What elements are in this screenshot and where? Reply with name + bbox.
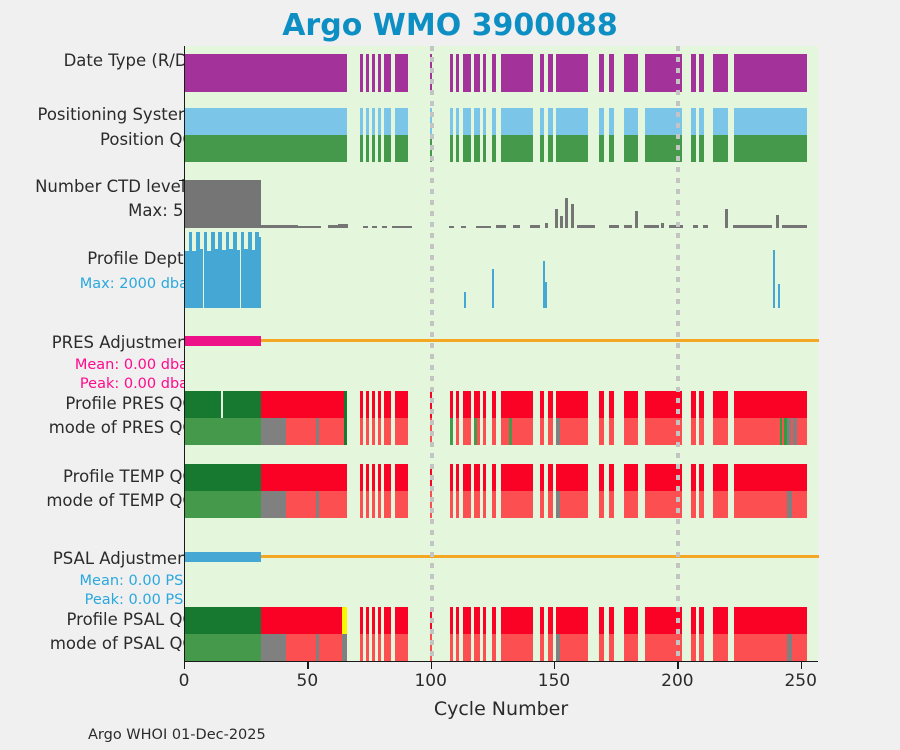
- qc-segment: [261, 391, 344, 418]
- data-span: [734, 135, 807, 162]
- qc-segment: [463, 607, 472, 634]
- qc-segment: [384, 391, 391, 418]
- row-label-mode-pres-qc: mode of PRES QC: [49, 419, 194, 437]
- qc-segment: [691, 634, 696, 661]
- qc-segment: [540, 464, 544, 491]
- qc-segment: [456, 491, 459, 518]
- qc-segment: [378, 418, 381, 445]
- data-span: [395, 135, 409, 162]
- data-span: [463, 108, 472, 135]
- qc-segment: [463, 491, 472, 518]
- value-bar: [560, 216, 563, 228]
- value-bar: [577, 225, 594, 228]
- row-label-number-ctd-levels: Number CTD levels: [35, 178, 194, 196]
- data-span: [463, 54, 472, 92]
- qc-segment: [699, 418, 704, 445]
- qc-segment: [395, 607, 409, 634]
- qc-segment: [599, 418, 604, 445]
- qc-segment: [713, 464, 728, 491]
- qc-segment: [286, 491, 316, 518]
- data-span: [366, 135, 369, 162]
- vertical-gridline: [676, 46, 680, 661]
- qc-segment: [599, 391, 604, 418]
- qc-segment: [463, 391, 472, 418]
- value-bar: [392, 226, 412, 228]
- qc-segment: [609, 391, 614, 418]
- qc-segment: [734, 634, 787, 661]
- qc-segment: [372, 391, 375, 418]
- value-bar: [776, 215, 779, 228]
- qc-segment: [456, 418, 459, 445]
- qc-segment: [319, 634, 341, 661]
- row-label-pres-mean: Mean: 0.00 dbar: [75, 358, 194, 374]
- qc-segment: [450, 634, 453, 661]
- x-tick: [677, 662, 678, 669]
- data-span: [492, 108, 496, 135]
- value-bar: [782, 225, 807, 228]
- qc-segment: [483, 607, 486, 634]
- x-tick: [307, 662, 308, 669]
- x-tick: [431, 662, 432, 669]
- row-label-mode-psal-qc: mode of PSAL QC: [50, 635, 194, 653]
- track-profile-pres-qc: [185, 391, 818, 418]
- track-profile-psal-qc: [185, 607, 818, 634]
- qc-segment: [560, 491, 588, 518]
- qc-segment: [540, 634, 544, 661]
- qc-segment: [734, 418, 780, 445]
- qc-segment: [492, 391, 496, 418]
- track-mode-temp-qc: [185, 491, 818, 518]
- qc-segment: [699, 634, 704, 661]
- row-label-profile-pres-qc: Profile PRES QC: [65, 395, 194, 413]
- value-bar: [530, 225, 540, 228]
- value-bar: [703, 225, 708, 228]
- value-bar: [733, 225, 772, 228]
- track-pres-adjustment: [185, 336, 818, 346]
- qc-segment: [261, 634, 286, 661]
- qc-segment: [540, 418, 544, 445]
- x-axis: 050100150200250: [184, 662, 818, 692]
- y-tick-ctd-max: [179, 180, 185, 181]
- value-bar: [644, 225, 659, 228]
- qc-segment: [540, 391, 544, 418]
- data-span: [556, 108, 588, 135]
- track-mode-psal-qc: [185, 634, 818, 661]
- qc-segment: [384, 418, 391, 445]
- qc-segment: [492, 464, 496, 491]
- qc-segment: [792, 491, 807, 518]
- pres-adjustment-line: [185, 339, 819, 342]
- x-tick-label: 0: [179, 671, 190, 691]
- value-bar: [609, 225, 619, 228]
- value-bar: [773, 250, 775, 308]
- qc-segment: [512, 418, 532, 445]
- qc-segment: [360, 418, 363, 445]
- x-axis-label: Cycle Number: [184, 698, 818, 720]
- x-tick-label: 250: [784, 671, 816, 691]
- value-bar: [624, 225, 631, 228]
- x-tick-label: 100: [414, 671, 446, 691]
- credit-text: Argo WHOI 01-Dec-2025: [88, 727, 266, 743]
- data-span: [360, 135, 363, 162]
- psal-adjustment-line: [185, 555, 819, 558]
- qc-segment: [223, 391, 261, 418]
- qc-segment: [342, 607, 347, 634]
- qc-segment: [185, 464, 261, 491]
- qc-segment: [599, 491, 604, 518]
- value-bar: [298, 226, 320, 228]
- qc-segment: [483, 491, 486, 518]
- qc-segment: [501, 607, 533, 634]
- qc-segment: [548, 491, 553, 518]
- data-span: [548, 54, 553, 92]
- data-span: [540, 54, 544, 92]
- qc-segment: [366, 491, 369, 518]
- data-span: [548, 108, 553, 135]
- qc-segment: [556, 391, 588, 418]
- qc-segment: [463, 418, 472, 445]
- row-label-pres-adjustment: PRES Adjustment: [52, 334, 194, 352]
- qc-segment: [378, 464, 381, 491]
- data-span: [699, 108, 704, 135]
- qc-segment: [699, 607, 704, 634]
- qc-segment: [395, 391, 409, 418]
- row-label-position-qc: Position QC: [100, 131, 194, 149]
- row-label-date-type: Date Type (R/D): [64, 52, 194, 70]
- qc-segment: [372, 634, 375, 661]
- data-span: [713, 108, 728, 135]
- track-number-ctd-levels: [185, 180, 818, 228]
- qc-segment: [501, 491, 533, 518]
- row-label-depth-max: Max: 2000 dbar: [80, 277, 194, 293]
- value-bar: [261, 225, 298, 228]
- qc-segment: [501, 634, 533, 661]
- qc-segment: [540, 491, 544, 518]
- data-span: [599, 135, 604, 162]
- qc-segment: [360, 607, 363, 634]
- data-span: [395, 54, 409, 92]
- row-label-mode-temp-qc: mode of TEMP QC: [46, 492, 194, 510]
- data-span: [540, 135, 544, 162]
- qc-segment: [450, 418, 453, 445]
- qc-segment: [366, 391, 369, 418]
- data-span: [463, 135, 472, 162]
- qc-segment: [344, 418, 346, 445]
- value-bar: [382, 226, 387, 228]
- data-span: [483, 54, 486, 92]
- qc-segment: [384, 464, 391, 491]
- qc-segment: [492, 607, 496, 634]
- qc-segment: [548, 464, 553, 491]
- qc-segment: [384, 491, 391, 518]
- data-span: [474, 54, 480, 92]
- qc-segment: [483, 418, 486, 445]
- row-label-positioning-system: Positioning System: [37, 106, 194, 124]
- qc-segment: [609, 607, 614, 634]
- qc-segment: [560, 418, 588, 445]
- data-span: [450, 108, 453, 135]
- data-span: [360, 108, 363, 135]
- qc-segment: [384, 607, 391, 634]
- data-span: [384, 135, 391, 162]
- qc-segment: [450, 391, 453, 418]
- qc-segment: [624, 607, 638, 634]
- data-span: [185, 135, 347, 162]
- value-bar: [259, 237, 262, 308]
- data-span: [624, 108, 638, 135]
- data-span: [492, 135, 496, 162]
- qc-segment: [342, 634, 347, 661]
- data-span: [501, 135, 533, 162]
- qc-segment: [734, 464, 807, 491]
- data-span: [609, 135, 614, 162]
- qc-segment: [691, 391, 696, 418]
- qc-segment: [483, 464, 486, 491]
- value-bar: [185, 180, 261, 228]
- qc-segment: [691, 607, 696, 634]
- qc-segment: [699, 464, 704, 491]
- data-span: [734, 54, 807, 92]
- value-bar: [635, 211, 638, 228]
- row-label-profile-depth: Profile Depth: [87, 250, 194, 268]
- data-span: [378, 135, 381, 162]
- qc-segment: [624, 418, 638, 445]
- value-bar: [778, 284, 780, 308]
- row-label-pres-peak: Peak: 0.00 dbar: [80, 377, 194, 393]
- qc-segment: [185, 607, 261, 634]
- qc-segment: [372, 607, 375, 634]
- qc-segment: [691, 491, 696, 518]
- data-span: [699, 54, 704, 92]
- data-span: [360, 54, 363, 92]
- qc-segment: [609, 464, 614, 491]
- qc-segment: [261, 464, 346, 491]
- qc-segment: [344, 391, 346, 418]
- qc-segment: [734, 391, 807, 418]
- x-tick-label: 50: [297, 671, 319, 691]
- vertical-gridline: [430, 46, 434, 661]
- argo-summary-plot: [184, 46, 818, 662]
- value-bar: [496, 225, 506, 228]
- data-span: [378, 54, 381, 92]
- x-tick: [554, 662, 555, 669]
- qc-segment: [395, 634, 409, 661]
- x-tick: [801, 662, 802, 669]
- qc-segment: [734, 491, 787, 518]
- data-span: [609, 54, 614, 92]
- data-span: [185, 54, 347, 92]
- qc-segment: [734, 607, 807, 634]
- qc-segment: [501, 418, 510, 445]
- qc-segment: [792, 634, 807, 661]
- data-span: [556, 54, 588, 92]
- data-span: [450, 54, 453, 92]
- data-span: [474, 135, 480, 162]
- qc-segment: [492, 634, 496, 661]
- value-bar: [363, 226, 368, 228]
- data-span: [395, 108, 409, 135]
- qc-segment: [360, 391, 363, 418]
- pres-adjustment-bar: [185, 336, 261, 346]
- track-position-qc: [185, 135, 818, 162]
- qc-segment: [556, 464, 588, 491]
- value-bar: [565, 198, 568, 228]
- value-bar: [372, 226, 377, 228]
- qc-segment: [456, 607, 459, 634]
- data-span: [384, 108, 391, 135]
- x-tick-label: 200: [661, 671, 693, 691]
- qc-segment: [286, 418, 316, 445]
- data-span: [609, 108, 614, 135]
- value-bar: [571, 204, 574, 228]
- data-span: [474, 108, 480, 135]
- data-span: [483, 135, 486, 162]
- qc-segment: [261, 418, 286, 445]
- qc-segment: [609, 491, 614, 518]
- qc-segment: [474, 391, 480, 418]
- qc-segment: [378, 607, 381, 634]
- data-span: [713, 135, 728, 162]
- qc-segment: [261, 491, 286, 518]
- track-psal-adjustment: [185, 552, 818, 562]
- data-span: [540, 108, 544, 135]
- qc-segment: [463, 464, 472, 491]
- data-span: [456, 108, 459, 135]
- data-span: [713, 54, 728, 92]
- qc-segment: [450, 607, 453, 634]
- qc-segment: [456, 391, 459, 418]
- data-span: [691, 108, 696, 135]
- qc-segment: [548, 607, 553, 634]
- track-date-type: [185, 54, 818, 92]
- qc-segment: [713, 634, 728, 661]
- value-bar: [328, 225, 338, 228]
- data-span: [624, 135, 638, 162]
- value-bar: [492, 269, 494, 308]
- qc-segment: [384, 634, 391, 661]
- x-tick-label: 150: [538, 671, 570, 691]
- qc-segment: [261, 607, 341, 634]
- data-span: [372, 54, 375, 92]
- qc-segment: [372, 418, 375, 445]
- qc-segment: [624, 491, 638, 518]
- qc-segment: [366, 418, 369, 445]
- qc-segment: [691, 464, 696, 491]
- value-bar: [461, 226, 466, 228]
- data-span: [366, 54, 369, 92]
- row-label-psal-peak: Peak: 0.00 PSU: [85, 593, 194, 609]
- data-span: [599, 108, 604, 135]
- data-span: [624, 54, 638, 92]
- qc-segment: [378, 391, 381, 418]
- data-span: [734, 108, 807, 135]
- qc-segment: [456, 464, 459, 491]
- qc-segment: [366, 634, 369, 661]
- qc-segment: [185, 418, 261, 445]
- row-label-profile-temp-qc: Profile TEMP QC: [63, 468, 194, 486]
- qc-segment: [492, 491, 496, 518]
- track-profile-depth: [185, 232, 818, 308]
- value-bar: [464, 292, 466, 308]
- qc-segment: [501, 464, 533, 491]
- qc-segment: [713, 391, 728, 418]
- data-span: [691, 135, 696, 162]
- value-bar: [476, 226, 491, 228]
- qc-segment: [797, 418, 807, 445]
- qc-segment: [474, 607, 480, 634]
- qc-segment: [699, 491, 704, 518]
- qc-segment: [540, 607, 544, 634]
- qc-segment: [699, 391, 704, 418]
- qc-segment: [395, 464, 409, 491]
- qc-segment: [609, 418, 614, 445]
- data-span: [492, 54, 496, 92]
- value-bar: [545, 223, 547, 228]
- qc-segment: [556, 607, 588, 634]
- row-label-psal-mean: Mean: 0.00 PSU: [80, 574, 194, 590]
- data-span: [378, 108, 381, 135]
- value-bar: [513, 225, 520, 228]
- qc-segment: [483, 634, 486, 661]
- value-bar: [555, 209, 558, 228]
- qc-segment: [450, 464, 453, 491]
- qc-segment: [185, 391, 221, 418]
- qc-segment: [474, 634, 480, 661]
- qc-segment: [395, 491, 409, 518]
- qc-segment: [713, 418, 728, 445]
- value-bar: [725, 209, 727, 228]
- qc-segment: [548, 391, 553, 418]
- qc-segment: [599, 634, 604, 661]
- qc-segment: [548, 418, 553, 445]
- data-span: [366, 108, 369, 135]
- value-bar: [661, 223, 663, 228]
- data-span: [483, 108, 486, 135]
- qc-segment: [319, 491, 346, 518]
- value-bar: [693, 225, 698, 228]
- qc-segment: [624, 634, 638, 661]
- qc-segment: [560, 634, 588, 661]
- data-span: [556, 135, 588, 162]
- qc-segment: [286, 634, 316, 661]
- value-bar: [545, 282, 547, 308]
- data-span: [372, 108, 375, 135]
- qc-segment: [501, 391, 533, 418]
- data-span: [599, 54, 604, 92]
- qc-segment: [599, 607, 604, 634]
- qc-segment: [360, 464, 363, 491]
- track-profile-temp-qc: [185, 464, 818, 491]
- qc-segment: [378, 491, 381, 518]
- row-label-psal-adjustment: PSAL Adjustment: [53, 550, 194, 568]
- data-span: [384, 54, 391, 92]
- qc-segment: [624, 391, 638, 418]
- data-span: [501, 54, 533, 92]
- psal-adjustment-bar: [185, 552, 261, 562]
- x-tick: [184, 662, 185, 669]
- qc-segment: [713, 607, 728, 634]
- data-span: [699, 135, 704, 162]
- qc-segment: [713, 491, 728, 518]
- data-span: [456, 135, 459, 162]
- qc-segment: [548, 634, 553, 661]
- qc-segment: [185, 634, 261, 661]
- data-span: [185, 108, 347, 135]
- qc-segment: [395, 418, 409, 445]
- data-span: [501, 108, 533, 135]
- value-bar: [449, 226, 454, 228]
- qc-segment: [624, 464, 638, 491]
